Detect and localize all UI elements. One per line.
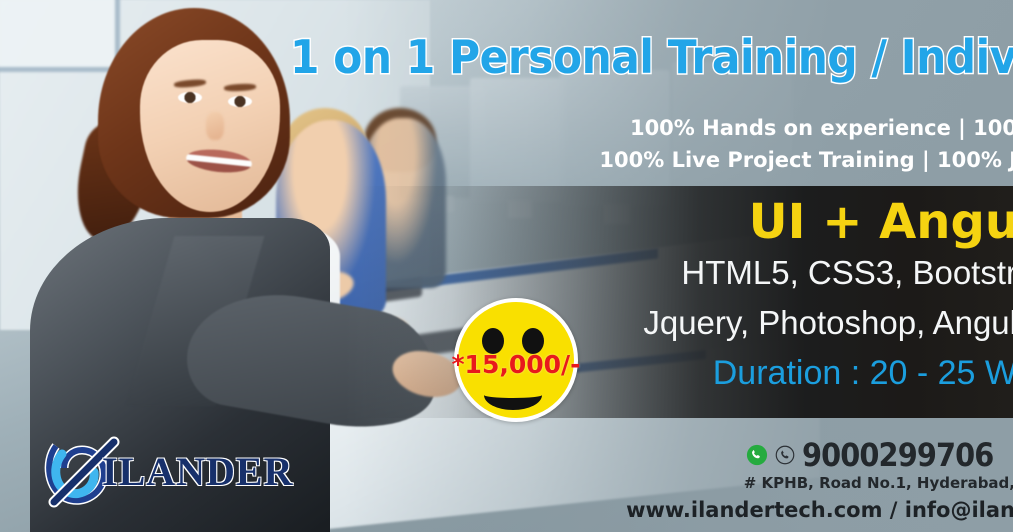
course-title: UI + Angu	[749, 198, 1013, 246]
advertisement-banner: 1 on 1 Personal Training / Individ 100% …	[0, 0, 1013, 532]
office-address: # KPHB, Road No.1, Hyderabad,	[744, 474, 1013, 492]
phone-handset-icon	[775, 445, 795, 465]
technology-line-2: Jquery, Photoshop, Angul	[643, 306, 1013, 339]
logo-text: ILANDER	[102, 448, 293, 495]
smiley-face-icon: *15,000/-	[454, 298, 578, 422]
whatsapp-icon	[746, 444, 768, 466]
course-duration: Duration : 20 - 25 W	[713, 356, 1013, 390]
price-label: *15,000/-	[446, 350, 586, 379]
technology-line-1: HTML5, CSS3, Bootstr	[681, 256, 1013, 289]
phone-number[interactable]: 9000299706	[802, 436, 993, 474]
contact-phone-row: 9000299706	[746, 436, 1013, 474]
website-and-email[interactable]: www.ilandertech.com / info@ilan	[626, 498, 1013, 522]
company-logo: ILANDER	[42, 440, 302, 508]
page-title: 1 on 1 Personal Training / Individ	[290, 34, 1013, 80]
highlight-line-2: 100% Live Project Training | 100% J	[599, 150, 1013, 171]
highlight-line-1: 100% Hands on experience | 100	[630, 118, 1013, 139]
